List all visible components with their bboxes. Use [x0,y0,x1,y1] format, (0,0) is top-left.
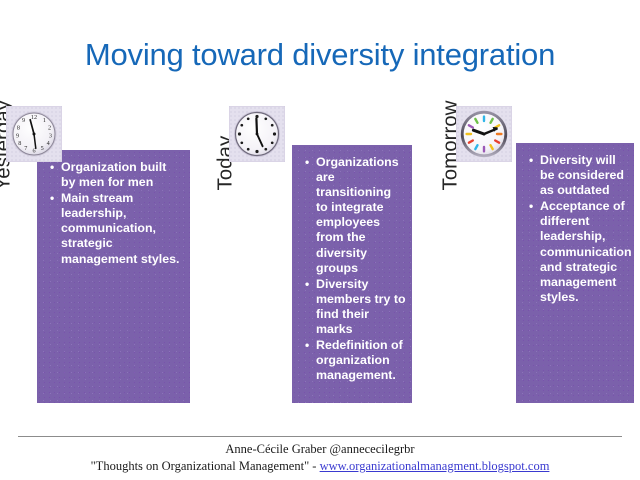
svg-text:8: 8 [17,125,20,132]
list-item: Diversity will be considered as outdated [529,153,628,198]
bullet-list-tomorrow: Diversity will be considered as outdated… [529,153,628,305]
footer: Anne-Cécile Graber @annececilegrbr "Thou… [0,441,640,475]
footer-blog-title: "Thoughts on Organizational Management" … [91,459,320,473]
analog-clock-numerals-icon: 12 1 2 3 4 5 6 7 8 9 8 9 [6,106,62,162]
svg-text:2: 2 [48,125,51,132]
panel-tomorrow: Diversity will be considered as outdated… [516,143,634,403]
svg-text:7: 7 [24,145,27,152]
svg-text:4: 4 [47,140,50,147]
list-item: Acceptance of different leadership, comm… [529,199,628,305]
blog-url-link[interactable]: www.organizationalmanagment.blogspot.com [320,459,550,473]
list-item: Main stream leadership, communication, s… [50,191,184,266]
analog-clock-colorful-icon [456,106,512,162]
footer-author: Anne-Cécile Graber @annececilegrbr [0,441,640,458]
svg-text:12: 12 [31,114,37,121]
page-title: Moving toward diversity integration [0,36,640,74]
svg-text:8: 8 [18,140,21,147]
list-item: Organizations are transitioning to integ… [305,155,406,276]
panel-body-yesterday: Organization built by men for men Main s… [50,160,184,268]
panel-today: Organizations are transitioning to integ… [292,145,412,403]
panel-body-today: Organizations are transitioning to integ… [305,155,406,384]
list-item: Redefinition of organization management. [305,338,406,383]
svg-text:9: 9 [22,117,25,124]
svg-text:5: 5 [41,145,44,152]
slide-canvas: Moving toward diversity integration Orga… [0,0,640,480]
list-item: Diversity members try to find their mark… [305,277,406,337]
svg-text:9: 9 [16,132,19,139]
panel-body-tomorrow: Diversity will be considered as outdated… [529,153,628,306]
footer-divider [18,436,622,437]
analog-clock-dots-icon [229,106,285,162]
footer-blog-line: "Thoughts on Organizational Management" … [0,458,640,475]
panel-yesterday: Organization built by men for men Main s… [37,150,190,403]
svg-text:3: 3 [49,132,52,139]
bullet-list-today: Organizations are transitioning to integ… [305,155,406,383]
list-item: Organization built by men for men [50,160,184,190]
bullet-list-yesterday: Organization built by men for men Main s… [50,160,184,267]
svg-text:1: 1 [43,117,46,124]
